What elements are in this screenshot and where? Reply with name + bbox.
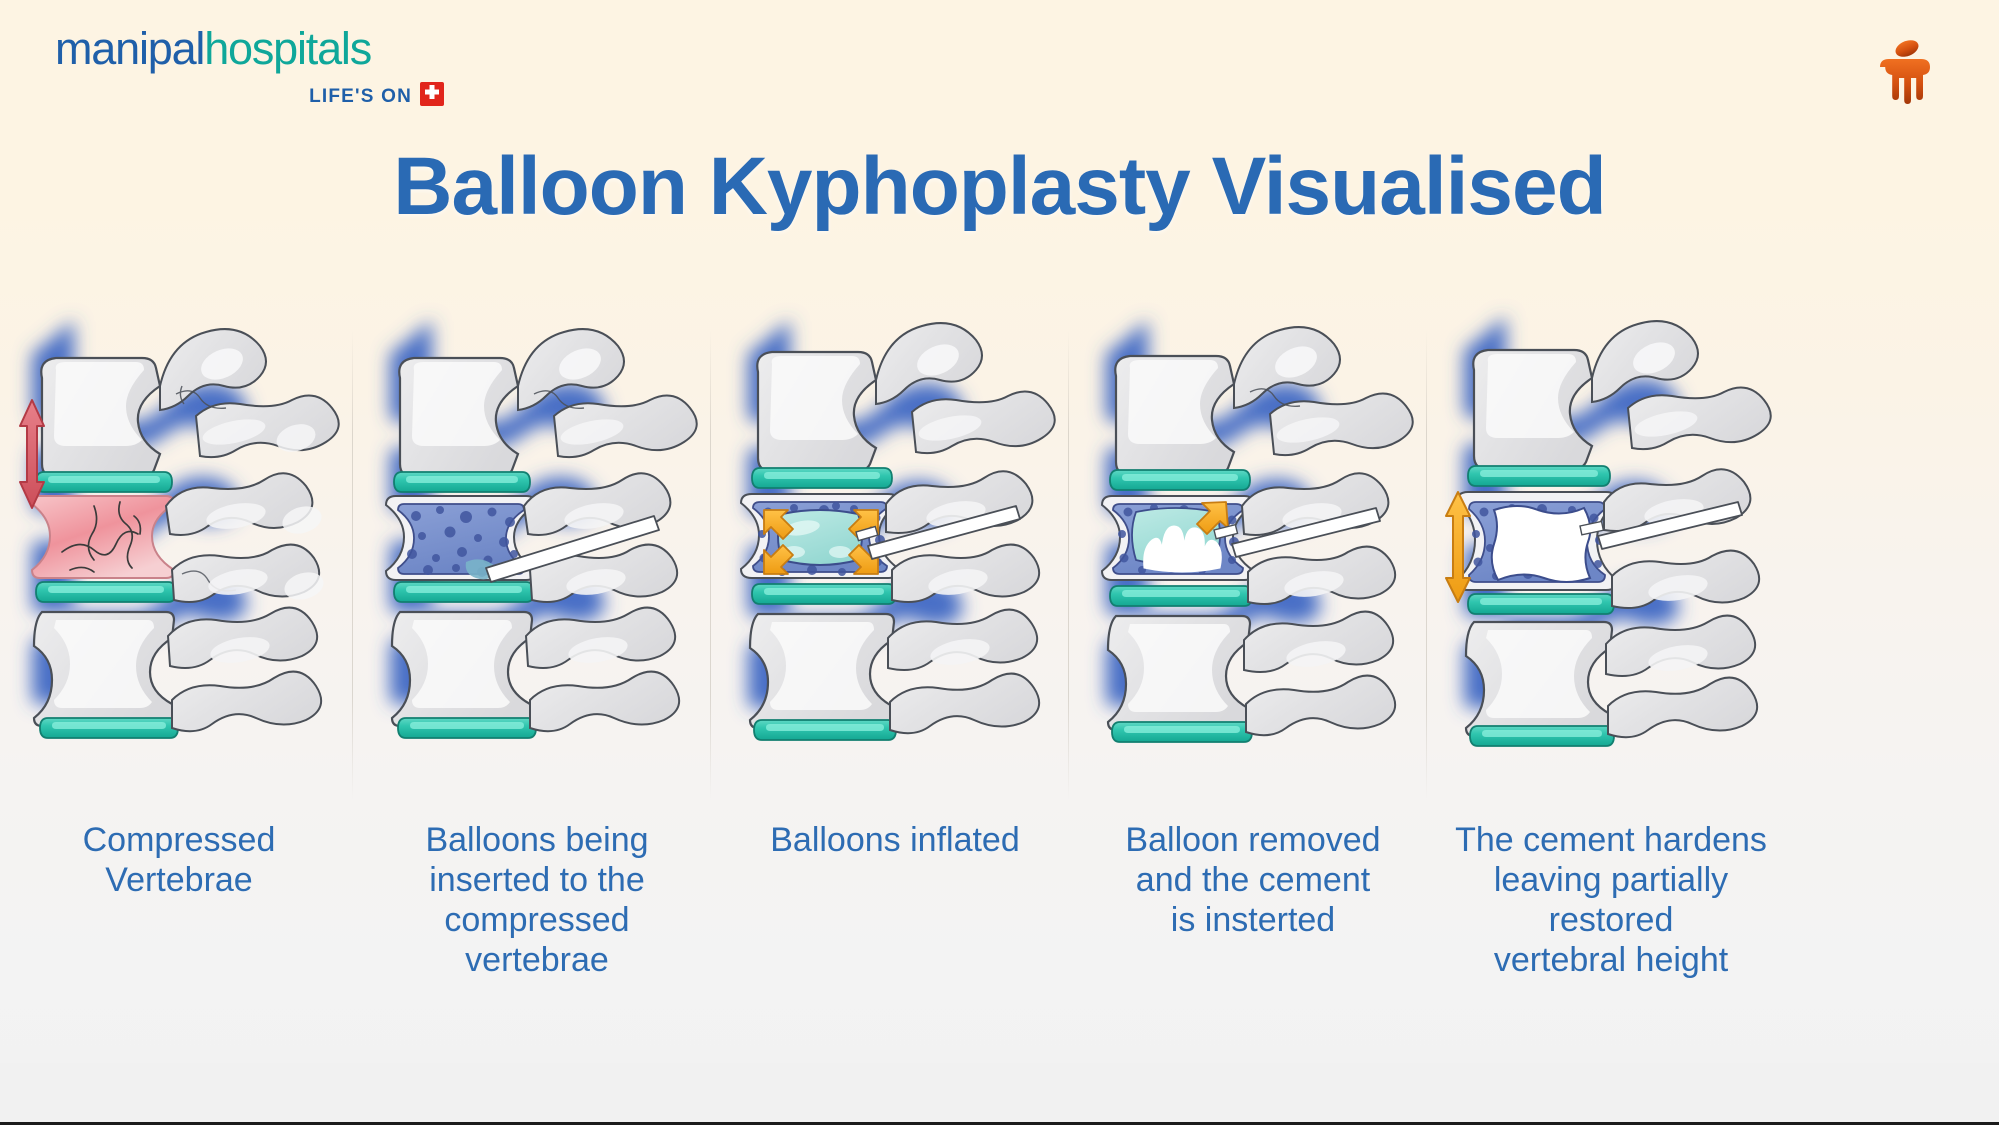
panel-caption: Balloon removed and the cement is inster… — [1088, 820, 1418, 940]
caption-line: is insterted — [1088, 900, 1418, 940]
panel-caption: Compressed Vertebrae — [14, 820, 344, 900]
spine-illustration-3 — [716, 320, 1074, 790]
logo-word-manipal: manipal — [55, 23, 204, 74]
intervertebral-disc-lower — [1468, 594, 1614, 614]
caption-line: Balloon removed — [1088, 820, 1418, 860]
header: manipalhospitals LIFE'S ON — [0, 0, 1999, 135]
caption-line: vertebrae — [372, 940, 702, 980]
caption-line: The cement hardens — [1446, 820, 1776, 860]
lower-vertebra — [1108, 616, 1250, 730]
spine-illustration-1 — [0, 320, 358, 790]
caption-line: Balloons inflated — [730, 820, 1060, 860]
posterior-elements-bottom — [530, 672, 679, 732]
caption-line: Compressed — [14, 820, 344, 860]
treated-vertebra-body — [741, 494, 899, 578]
spine-illustration-2 — [358, 320, 716, 790]
infographic-canvas: manipalhospitals LIFE'S ON — [0, 0, 1999, 1125]
intervertebral-disc-lower — [752, 584, 896, 604]
footer-strip — [0, 1063, 1999, 1125]
caption-line: leaving partially — [1446, 860, 1776, 900]
restored-height-arrow — [1446, 492, 1470, 602]
intervertebral-disc-upper — [1468, 466, 1610, 486]
spine-illustration-5 — [1432, 320, 1790, 790]
stage-panels: Compressed Vertebrae — [0, 320, 1999, 1080]
spine-illustration-4 — [1074, 320, 1432, 790]
caption-line: restored — [1446, 900, 1776, 940]
manipal-figure-icon — [1869, 34, 1941, 106]
intervertebral-disc-upper — [394, 472, 530, 492]
intervertebral-disc-lower — [1110, 586, 1252, 606]
upper-vertebra — [399, 358, 518, 478]
intervertebral-disc-bottom — [754, 720, 896, 740]
intervertebral-disc-bottom — [1470, 726, 1614, 746]
upper-vertebra — [1115, 356, 1234, 476]
treated-vertebra-body — [1457, 492, 1617, 590]
caption-line: Vertebrae — [14, 860, 344, 900]
upper-vertebra — [1473, 350, 1592, 470]
treated-vertebra-body — [1102, 496, 1254, 580]
logo-word-hospitals: hospitals — [204, 23, 371, 74]
intervertebral-disc-upper — [36, 472, 172, 492]
posterior-elements-bottom — [1608, 678, 1757, 738]
intervertebral-disc-upper — [752, 468, 892, 488]
upper-vertebra — [757, 352, 876, 472]
posterior-elements-bottom — [172, 672, 321, 732]
posterior-elements-bottom — [1246, 676, 1395, 736]
manipal-hospitals-logo: manipalhospitals LIFE'S ON — [55, 26, 445, 121]
lower-vertebra — [750, 614, 894, 728]
caption-line: compressed — [372, 900, 702, 940]
intervertebral-disc-upper — [1110, 470, 1250, 490]
panel-balloons-inflated: Balloons inflated — [716, 320, 1074, 1060]
panel-compressed-vertebrae: Compressed Vertebrae — [0, 320, 358, 1060]
panel-caption: Balloons inflated — [730, 820, 1060, 860]
intervertebral-disc-bottom — [1112, 722, 1252, 742]
hardened-cement — [1492, 506, 1591, 582]
lower-vertebra — [392, 612, 532, 726]
compressed-vertebra-body — [32, 496, 174, 578]
panel-caption: The cement hardens leaving partially res… — [1446, 820, 1776, 980]
panel-cement-inserted: Balloon removed and the cement is inster… — [1074, 320, 1432, 1060]
panel-caption: Balloons being inserted to the compresse… — [372, 820, 702, 980]
intervertebral-disc-lower — [394, 582, 534, 602]
upper-vertebra — [41, 358, 160, 478]
caption-line: Balloons being — [372, 820, 702, 860]
logo-tagline-text: LIFE'S ON — [309, 86, 412, 108]
panel-balloons-inserted: Balloons being inserted to the compresse… — [358, 320, 716, 1060]
intervertebral-disc-bottom — [40, 718, 178, 738]
lower-vertebra — [34, 612, 174, 726]
lower-vertebra — [1466, 622, 1612, 736]
intervertebral-disc-bottom — [398, 718, 536, 738]
caption-line: and the cement — [1088, 860, 1418, 900]
logo-wordmark: manipalhospitals — [55, 26, 445, 71]
page-title: Balloon Kyphoplasty Visualised — [0, 140, 1999, 234]
intervertebral-disc-lower — [36, 582, 176, 602]
medical-cross-icon — [419, 81, 445, 112]
posterior-elements-bottom — [890, 674, 1039, 734]
logo-tagline: LIFE'S ON — [309, 81, 445, 112]
caption-line: inserted to the — [372, 860, 702, 900]
panel-cement-hardened: The cement hardens leaving partially res… — [1432, 320, 1790, 1060]
caption-line: vertebral height — [1446, 940, 1776, 980]
